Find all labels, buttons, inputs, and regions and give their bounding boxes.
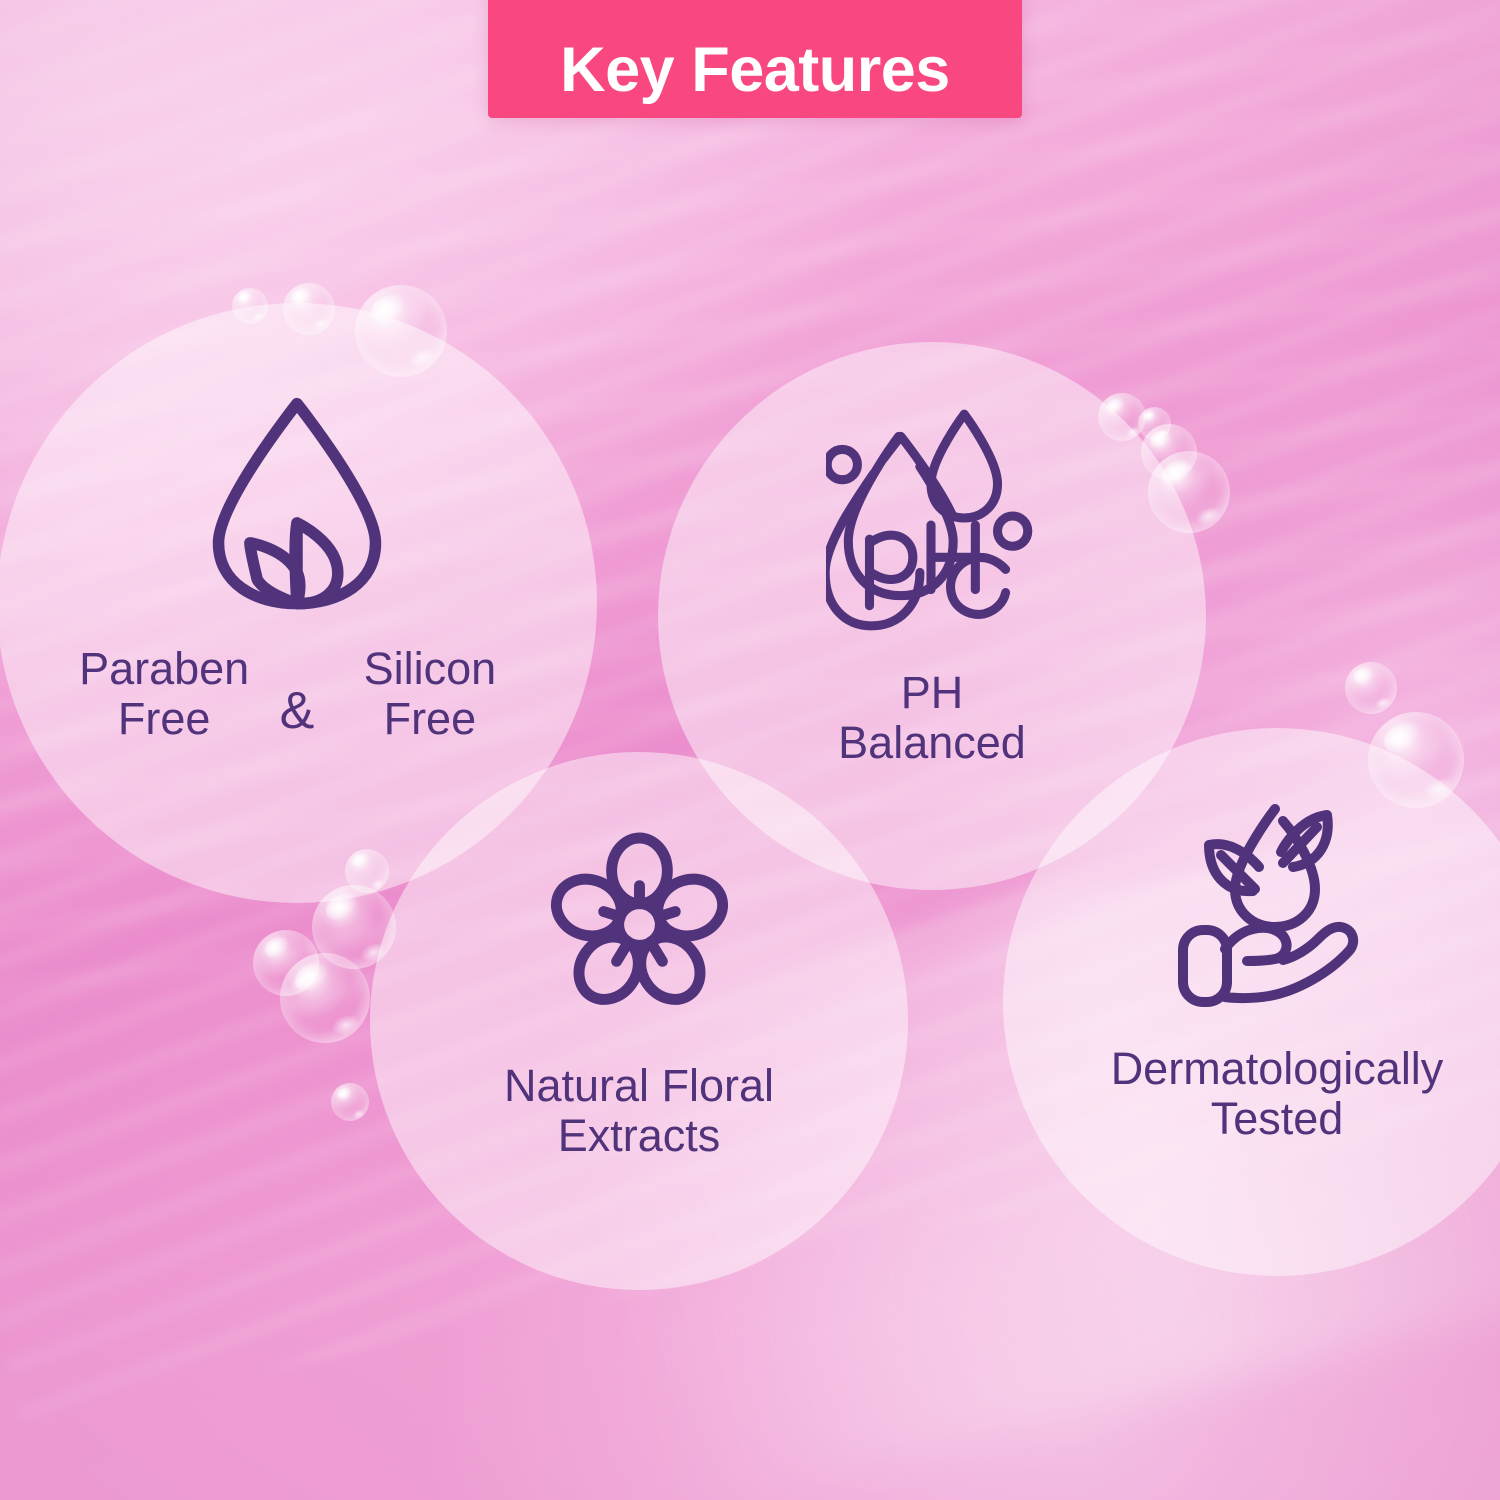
droplet-leaf-icon (192, 389, 402, 614)
bubble (331, 1083, 369, 1121)
feature-natural-floral-extracts: Natural Floral Extracts (370, 752, 908, 1290)
bubble (355, 285, 447, 377)
key-features-banner: Key Features (488, 0, 1022, 118)
feature-label-dermatologically-tested: Dermatologically Tested (1111, 1044, 1444, 1143)
feature-label-ph-balanced: PH Balanced (838, 668, 1026, 767)
bubble (283, 283, 335, 335)
flower-icon (547, 832, 732, 1017)
feature-label-silicon-free: Silicon Free (322, 644, 537, 743)
ampersand: & (280, 651, 315, 737)
feature-label-paraben-free: Paraben Free (57, 644, 272, 743)
key-features-graphic: Key Features Paraben Free & Silicon Free (0, 0, 1500, 1500)
bubble (232, 288, 268, 324)
bubble (1148, 451, 1230, 533)
silicon-free-column: Silicon Free (322, 644, 537, 743)
paraben-free-column: Paraben Free (57, 644, 272, 743)
paraben-silicon-labels: Paraben Free & Silicon Free (57, 644, 538, 743)
bubble (1345, 662, 1397, 714)
ph-droplet-icon (826, 392, 1038, 642)
bubble (280, 953, 370, 1043)
feature-label-natural-floral-extracts: Natural Floral Extracts (504, 1061, 774, 1160)
bubble (1368, 712, 1464, 808)
page-title: Key Features (560, 39, 950, 102)
hand-droplet-leaf-icon (1177, 798, 1377, 1008)
